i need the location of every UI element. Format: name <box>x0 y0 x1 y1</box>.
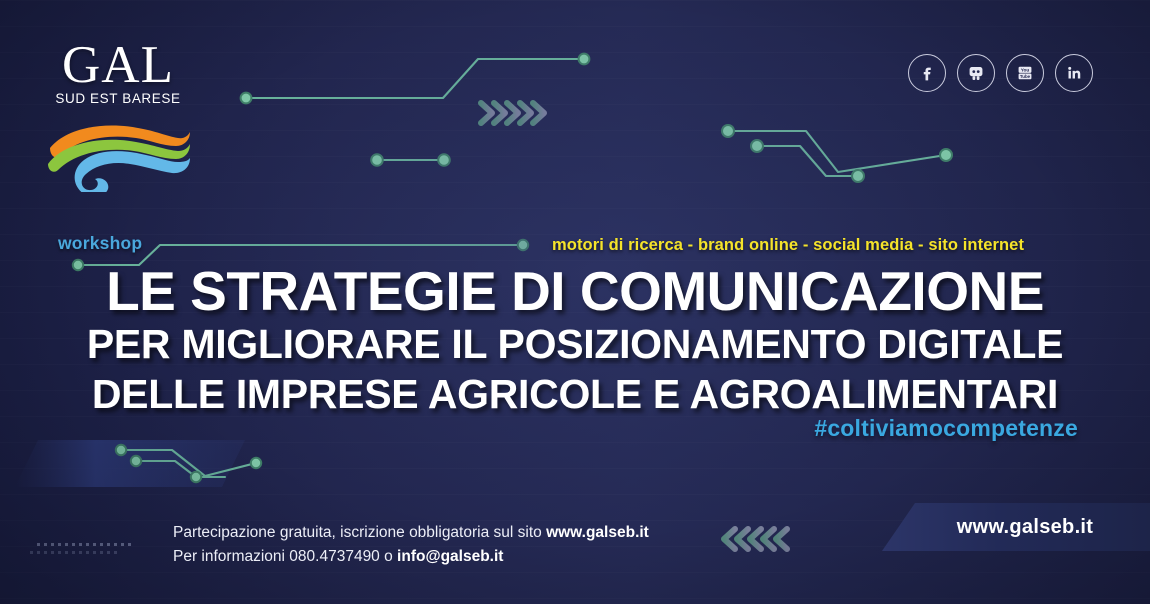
circuit-path-bottom-a <box>121 450 256 476</box>
footer-info: Partecipazione gratuita, iscrizione obbl… <box>173 521 649 569</box>
logo-subtitle: SUD EST BARESE <box>38 91 198 106</box>
circuit-path-top <box>246 59 584 98</box>
footer-site-url: www.galseb.it <box>546 524 649 541</box>
svg-text:Tube: Tube <box>1020 74 1031 79</box>
circuit-path-bottom-b <box>136 461 225 477</box>
node <box>116 445 126 455</box>
chevrons-left-icon <box>724 529 787 549</box>
node <box>251 458 261 468</box>
svg-text:You: You <box>1021 68 1030 74</box>
node <box>518 240 528 250</box>
node <box>579 54 590 65</box>
headline-line-1: LE STRATEGIE DI COMUNICAZIONE <box>0 264 1150 319</box>
social-links[interactable]: You Tube <box>908 54 1093 92</box>
node <box>191 472 201 482</box>
node <box>722 125 734 137</box>
circuit-path-right-b <box>757 146 858 176</box>
node <box>131 456 141 466</box>
headline-line-3: DELLE IMPRESE AGRICOLE E AGROALIMENTARI <box>0 372 1150 418</box>
logo-wave-mark <box>38 112 198 192</box>
dot-grid-decoration <box>30 543 131 554</box>
footer-line-1-text: Partecipazione gratuita, iscrizione obbl… <box>173 524 546 541</box>
workshop-kicker: workshop <box>58 233 142 254</box>
node <box>241 93 252 104</box>
chevrons-right-icon <box>481 103 544 123</box>
footer-email: info@galseb.it <box>397 548 503 565</box>
keywords-line: motori di ricerca - brand online - socia… <box>552 236 1024 255</box>
footer-line-1: Partecipazione gratuita, iscrizione obbl… <box>173 521 649 545</box>
gal-logo: GAL SUD EST BARESE <box>38 40 198 192</box>
logo-title: GAL <box>38 40 198 90</box>
linkedin-icon[interactable] <box>1055 54 1093 92</box>
circuit-path-right-a <box>728 131 946 172</box>
facebook-icon[interactable] <box>908 54 946 92</box>
node <box>751 140 763 152</box>
youtube-icon[interactable]: You Tube <box>1006 54 1044 92</box>
instagram-icon[interactable] <box>957 54 995 92</box>
accent-panel-shape <box>15 440 245 487</box>
footer-line-2-text: Per informazioni 080.4737490 o <box>173 548 397 565</box>
headline-line-2: PER MIGLIORARE IL POSIZIONAMENTO DIGITAL… <box>0 322 1150 368</box>
node <box>438 154 450 166</box>
node <box>852 170 864 182</box>
node <box>371 154 383 166</box>
headline-block: LE STRATEGIE DI COMUNICAZIONE PER MIGLIO… <box>0 264 1150 418</box>
url-banner-label: www.galseb.it <box>939 516 1094 539</box>
url-banner[interactable]: www.galseb.it <box>882 503 1150 551</box>
poster-canvas: GAL SUD EST BARESE <box>0 0 1150 604</box>
footer-line-2: Per informazioni 080.4737490 o info@gals… <box>173 545 649 569</box>
node <box>940 149 952 161</box>
hashtag: #coltiviamocompetenze <box>814 415 1078 442</box>
